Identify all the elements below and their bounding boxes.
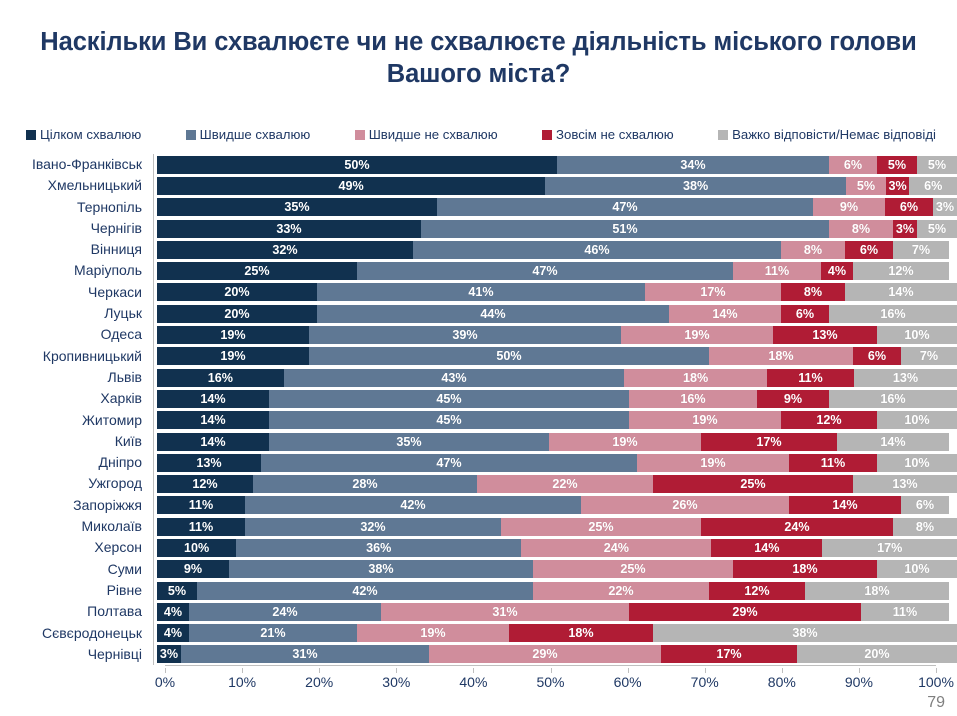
- bar-segment[interactable]: 45%: [269, 411, 629, 429]
- chart-row: Кропивницький19%50%18%6%7%: [0, 346, 957, 367]
- bar-segment[interactable]: 17%: [661, 645, 797, 663]
- bar-segment[interactable]: 31%: [381, 603, 629, 621]
- category-label: Кропивницький: [0, 346, 151, 367]
- bar-segment[interactable]: 33%: [157, 220, 421, 238]
- bar-segment[interactable]: 5%: [846, 177, 886, 195]
- bar-segment[interactable]: 18%: [805, 582, 949, 600]
- legend-label: Важко відповісти/Немає відповіді: [732, 128, 936, 141]
- legend-label: Швидше не схвалюю: [369, 128, 498, 141]
- bar-segment[interactable]: 19%: [549, 433, 701, 451]
- slide-root: Наскільки Ви схвалюєте чи не схвалюєте д…: [0, 0, 957, 716]
- bar-segment[interactable]: 19%: [157, 347, 309, 365]
- axis-tick-mark: [151, 644, 157, 665]
- chart-row: Київ14%35%19%17%14%: [0, 431, 957, 452]
- bar-segment[interactable]: 11%: [789, 454, 877, 472]
- bar-segment[interactable]: 19%: [157, 326, 309, 344]
- axis-tick-mark: [151, 601, 157, 622]
- bar-segment[interactable]: 17%: [645, 283, 781, 301]
- axis-tick: [628, 668, 629, 673]
- bar-segment[interactable]: 12%: [781, 411, 877, 429]
- bar-segment[interactable]: 4%: [821, 262, 853, 280]
- stacked-bar[interactable]: 13%47%19%11%10%: [157, 454, 957, 472]
- stacked-bar[interactable]: 3%31%29%17%20%: [157, 645, 957, 663]
- chart-row: Луцьк20%44%14%6%16%: [0, 303, 957, 324]
- stacked-bar[interactable]: 16%43%18%11%13%: [157, 369, 957, 387]
- bar-segment[interactable]: 17%: [701, 433, 837, 451]
- stacked-bar[interactable]: 14%45%19%12%10%: [157, 411, 957, 429]
- chart-row: Вінниця32%46%8%6%7%: [0, 239, 957, 260]
- bar-segment[interactable]: 18%: [624, 369, 767, 387]
- bar-segment[interactable]: 25%: [157, 262, 357, 280]
- axis-tick-mark: [151, 516, 157, 537]
- bar-segment[interactable]: 19%: [629, 411, 781, 429]
- axis-tick-mark: [151, 623, 157, 644]
- bar-segment[interactable]: 11%: [733, 262, 821, 280]
- bar-segment[interactable]: 9%: [813, 198, 885, 216]
- bar-segment[interactable]: 19%: [621, 326, 773, 344]
- axis-baseline: [165, 665, 936, 666]
- category-label: Дніпро: [0, 452, 151, 473]
- category-label: Житомир: [0, 410, 151, 431]
- bar-segment[interactable]: 3%: [157, 645, 181, 663]
- stacked-bar[interactable]: 10%36%24%14%17%: [157, 539, 957, 557]
- bar-segment[interactable]: 10%: [877, 454, 957, 472]
- bar-segment[interactable]: 43%: [284, 369, 625, 387]
- plot-area: Івано-Франківськ50%34%6%5%5%Хмельницький…: [0, 150, 957, 660]
- bar-segment[interactable]: 6%: [885, 198, 933, 216]
- category-label: Запоріжжя: [0, 495, 151, 516]
- bar-segment[interactable]: 7%: [901, 347, 957, 365]
- bar-segment[interactable]: 26%: [581, 496, 789, 514]
- bar-segment[interactable]: 39%: [309, 326, 621, 344]
- axis-tick-mark: [151, 303, 157, 324]
- bar-segment[interactable]: 36%: [236, 539, 521, 557]
- bar-segment[interactable]: 29%: [629, 603, 861, 621]
- category-label: Львів: [0, 367, 151, 388]
- axis-tick: [396, 668, 397, 673]
- chart-legend: Цілком схвалююШвидше схвалююШвидше не сх…: [26, 128, 936, 141]
- bar-segment[interactable]: 4%: [157, 624, 189, 642]
- bar-segment[interactable]: 18%: [709, 347, 853, 365]
- bar-segment[interactable]: 31%: [181, 645, 429, 663]
- stacked-bar[interactable]: 35%47%9%6%3%: [157, 198, 957, 216]
- bar-segment[interactable]: 20%: [157, 283, 317, 301]
- axis-tick-mark: [151, 346, 157, 367]
- axis-tick-mark: [151, 559, 157, 580]
- legend-item[interactable]: Важко відповісти/Немає відповіді: [718, 128, 936, 141]
- bar-segment[interactable]: 12%: [709, 582, 805, 600]
- category-label: Полтава: [0, 601, 151, 622]
- chart-row: Одеса19%39%19%13%10%: [0, 324, 957, 345]
- category-label: Вінниця: [0, 239, 151, 260]
- category-label: Маріуполь: [0, 260, 151, 281]
- stacked-bar[interactable]: 4%21%19%18%38%: [157, 624, 957, 642]
- legend-item[interactable]: Цілком схвалюю: [26, 128, 141, 141]
- category-label: Херсон: [0, 537, 151, 558]
- bar-segment[interactable]: 14%: [789, 496, 901, 514]
- axis-tick-label: 80%: [768, 674, 796, 690]
- bar-segment[interactable]: 6%: [853, 347, 901, 365]
- axis-tick: [473, 668, 474, 673]
- bar-segment[interactable]: 10%: [157, 539, 236, 557]
- bar-segment[interactable]: 14%: [845, 283, 957, 301]
- category-label: Тернопіль: [0, 197, 151, 218]
- chart-row: Тернопіль35%47%9%6%3%: [0, 197, 957, 218]
- bar-segment[interactable]: 16%: [829, 305, 957, 323]
- chart-row: Івано-Франківськ50%34%6%5%5%: [0, 154, 957, 175]
- category-label: Одеса: [0, 324, 151, 345]
- bar-segment[interactable]: 7%: [893, 241, 949, 259]
- category-label: Рівне: [0, 580, 151, 601]
- category-label: Луцьк: [0, 303, 151, 324]
- x-axis: 0%10%20%30%40%50%60%70%80%90%100%: [0, 668, 957, 698]
- bar-segment[interactable]: 42%: [197, 582, 533, 600]
- bar-segment[interactable]: 11%: [157, 496, 245, 514]
- chart-row: Харків14%45%16%9%16%: [0, 388, 957, 409]
- axis-tick-mark: [151, 431, 157, 452]
- category-label: Черкаси: [0, 282, 151, 303]
- bar-segment[interactable]: 13%: [157, 454, 261, 472]
- chart-row: Миколаїв11%32%25%24%8%: [0, 516, 957, 537]
- axis-tick-mark: [151, 324, 157, 345]
- bar-segment[interactable]: 11%: [861, 603, 949, 621]
- chart-row: Рівне5%42%22%12%18%: [0, 580, 957, 601]
- axis-tick-label: 90%: [845, 674, 873, 690]
- bar-segment[interactable]: 9%: [757, 390, 829, 408]
- category-label: Київ: [0, 431, 151, 452]
- bar-segment[interactable]: 12%: [853, 262, 949, 280]
- bar-segment[interactable]: 14%: [669, 305, 781, 323]
- stacked-bar[interactable]: 33%51%8%3%5%: [157, 220, 957, 238]
- chart-row: Хмельницький49%38%5%3%6%: [0, 175, 957, 196]
- bar-segment[interactable]: 29%: [429, 645, 661, 663]
- stacked-bar[interactable]: 25%47%11%4%12%: [157, 262, 957, 280]
- page-title: Наскільки Ви схвалюєте чи не схвалюєте д…: [40, 26, 917, 90]
- bar-segment[interactable]: 32%: [245, 518, 501, 536]
- bar-segment[interactable]: 49%: [157, 177, 545, 195]
- axis-tick: [242, 668, 243, 673]
- bar-segment[interactable]: 5%: [157, 582, 197, 600]
- axis-tick-mark: [151, 239, 157, 260]
- bar-segment[interactable]: 6%: [909, 177, 957, 195]
- chart-row: Запоріжжя11%42%26%14%6%: [0, 495, 957, 516]
- stacked-bar[interactable]: 19%50%18%6%7%: [157, 347, 957, 365]
- chart-row: Львів16%43%18%11%13%: [0, 367, 957, 388]
- chart-row: Полтава4%24%31%29%11%: [0, 601, 957, 622]
- stacked-bar[interactable]: 14%35%19%17%14%: [157, 433, 957, 451]
- category-label: Суми: [0, 559, 151, 580]
- axis-tick: [165, 668, 166, 673]
- bar-segment[interactable]: 25%: [533, 560, 733, 578]
- bar-segment[interactable]: 18%: [509, 624, 653, 642]
- category-label: Чернігів: [0, 218, 151, 239]
- chart-row: Маріуполь25%47%11%4%12%: [0, 260, 957, 281]
- axis-tick-mark: [151, 197, 157, 218]
- category-label: Харків: [0, 388, 151, 409]
- axis-tick: [705, 668, 706, 673]
- axis-tick-mark: [151, 452, 157, 473]
- bar-segment[interactable]: 18%: [733, 560, 877, 578]
- bar-segment[interactable]: 32%: [157, 241, 413, 259]
- bar-segment[interactable]: 8%: [781, 241, 845, 259]
- chart-area: Івано-Франківськ50%34%6%5%5%Хмельницький…: [0, 150, 957, 670]
- bar-segment[interactable]: 10%: [877, 411, 957, 429]
- axis-tick-label: 0%: [155, 674, 175, 690]
- bar-segment[interactable]: 10%: [877, 560, 957, 578]
- bar-segment[interactable]: 16%: [157, 369, 284, 387]
- bar-segment[interactable]: 12%: [157, 475, 253, 493]
- bar-segment[interactable]: 47%: [261, 454, 637, 472]
- chart-row: Суми9%38%25%18%10%: [0, 559, 957, 580]
- bar-segment[interactable]: 4%: [157, 603, 189, 621]
- axis-tick-label: 70%: [691, 674, 719, 690]
- axis-tick: [936, 668, 937, 673]
- bar-segment[interactable]: 8%: [893, 518, 957, 536]
- axis-tick: [859, 668, 860, 673]
- bar-segment[interactable]: 50%: [157, 156, 557, 174]
- legend-label: Зовсім не схвалюю: [556, 128, 674, 141]
- stacked-bar[interactable]: 19%39%19%13%10%: [157, 326, 957, 344]
- stacked-bar[interactable]: 20%41%17%8%14%: [157, 283, 957, 301]
- bar-segment[interactable]: 3%: [893, 220, 917, 238]
- bar-segment[interactable]: 41%: [317, 283, 645, 301]
- bar-segment[interactable]: 19%: [637, 454, 789, 472]
- bar-segment[interactable]: 22%: [477, 475, 653, 493]
- axis-tick-label: 40%: [459, 674, 487, 690]
- bar-segment[interactable]: 47%: [437, 198, 813, 216]
- bar-segment[interactable]: 5%: [917, 156, 957, 174]
- bar-segment[interactable]: 46%: [413, 241, 781, 259]
- chart-row: Чернівці3%31%29%17%20%: [0, 644, 957, 665]
- bar-segment[interactable]: 14%: [711, 539, 822, 557]
- axis-tick-mark: [151, 218, 157, 239]
- axis-tick: [782, 668, 783, 673]
- axis-tick-mark: [151, 282, 157, 303]
- legend-swatch-icon: [542, 130, 552, 140]
- bar-segment[interactable]: 38%: [229, 560, 533, 578]
- bar-segment[interactable]: 13%: [854, 369, 957, 387]
- bar-segment[interactable]: 11%: [157, 518, 245, 536]
- bar-segment[interactable]: 24%: [701, 518, 893, 536]
- category-label: Миколаїв: [0, 516, 151, 537]
- bar-segment[interactable]: 35%: [157, 198, 437, 216]
- bar-segment[interactable]: 11%: [767, 369, 854, 387]
- legend-swatch-icon: [186, 130, 196, 140]
- legend-item[interactable]: Швидше схвалюю: [186, 128, 311, 141]
- stacked-bar[interactable]: 49%38%5%3%6%: [157, 177, 957, 195]
- bar-segment[interactable]: 38%: [653, 624, 957, 642]
- axis-tick: [551, 668, 552, 673]
- axis-tick-mark: [151, 410, 157, 431]
- stacked-bar[interactable]: 4%24%31%29%11%: [157, 603, 957, 621]
- legend-label: Цілком схвалюю: [40, 128, 141, 141]
- bar-segment[interactable]: 16%: [629, 390, 757, 408]
- bar-segment[interactable]: 13%: [773, 326, 877, 344]
- axis-tick-mark: [151, 537, 157, 558]
- bar-segment[interactable]: 5%: [877, 156, 917, 174]
- axis-tick-label: 30%: [382, 674, 410, 690]
- axis-tick-mark: [151, 495, 157, 516]
- bar-segment[interactable]: 10%: [877, 326, 957, 344]
- axis-tick-mark: [151, 260, 157, 281]
- bar-segment[interactable]: 9%: [157, 560, 229, 578]
- bar-segment[interactable]: 3%: [886, 177, 910, 195]
- chart-row: Черкаси20%41%17%8%14%: [0, 282, 957, 303]
- legend-swatch-icon: [718, 130, 728, 140]
- category-label: Івано-Франківськ: [0, 154, 151, 175]
- bar-segment[interactable]: 51%: [421, 220, 829, 238]
- chart-row: Сєвєродонецьк4%21%19%18%38%: [0, 623, 957, 644]
- chart-row: Херсон10%36%24%14%17%: [0, 537, 957, 558]
- axis-tick-mark: [151, 580, 157, 601]
- category-label: Чернівці: [0, 644, 151, 665]
- chart-row: Дніпро13%47%19%11%10%: [0, 452, 957, 473]
- bar-segment[interactable]: 14%: [157, 411, 269, 429]
- chart-row: Ужгород12%28%22%25%13%: [0, 473, 957, 494]
- stacked-bar[interactable]: 11%32%25%24%8%: [157, 518, 957, 536]
- stacked-bar[interactable]: 11%42%26%14%6%: [157, 496, 957, 514]
- axis-tick-mark: [151, 388, 157, 409]
- stacked-bar[interactable]: 32%46%8%6%7%: [157, 241, 957, 259]
- axis-tick-label: 60%: [614, 674, 642, 690]
- axis-tick-mark: [151, 175, 157, 196]
- legend-item[interactable]: Зовсім не схвалюю: [542, 128, 674, 141]
- bar-segment[interactable]: 28%: [253, 475, 477, 493]
- bar-segment[interactable]: 5%: [917, 220, 957, 238]
- bar-segment[interactable]: 6%: [781, 305, 829, 323]
- axis-tick-label: 50%: [536, 674, 564, 690]
- bar-segment[interactable]: 20%: [797, 645, 957, 663]
- bar-segment[interactable]: 35%: [269, 433, 549, 451]
- bar-segment[interactable]: 6%: [845, 241, 893, 259]
- bar-segment[interactable]: 44%: [317, 305, 669, 323]
- bar-segment[interactable]: 24%: [189, 603, 381, 621]
- axis-tick-mark: [151, 367, 157, 388]
- legend-item[interactable]: Швидше не схвалюю: [355, 128, 498, 141]
- chart-row: Чернігів33%51%8%3%5%: [0, 218, 957, 239]
- legend-label: Швидше схвалюю: [200, 128, 311, 141]
- bar-segment[interactable]: 19%: [357, 624, 509, 642]
- stacked-bar[interactable]: 14%45%16%9%16%: [157, 390, 957, 408]
- stacked-bar[interactable]: 20%44%14%6%16%: [157, 305, 957, 323]
- stacked-bar[interactable]: 12%28%22%25%13%: [157, 475, 957, 493]
- bar-segment[interactable]: 47%: [357, 262, 733, 280]
- bar-segment[interactable]: 34%: [557, 156, 829, 174]
- stacked-bar[interactable]: 9%38%25%18%10%: [157, 560, 957, 578]
- bar-segment[interactable]: 20%: [157, 305, 317, 323]
- category-label: Хмельницький: [0, 175, 151, 196]
- bar-rows: Івано-Франківськ50%34%6%5%5%Хмельницький…: [0, 154, 957, 665]
- bar-segment[interactable]: 24%: [521, 539, 711, 557]
- bar-segment[interactable]: 25%: [501, 518, 701, 536]
- bar-segment[interactable]: 14%: [157, 433, 269, 451]
- bar-segment[interactable]: 6%: [901, 496, 949, 514]
- bar-segment[interactable]: 14%: [837, 433, 949, 451]
- chart-row: Житомир14%45%19%12%10%: [0, 410, 957, 431]
- bar-segment[interactable]: 42%: [245, 496, 581, 514]
- bar-segment[interactable]: 8%: [781, 283, 845, 301]
- bar-segment[interactable]: 25%: [653, 475, 853, 493]
- axis-tick: [319, 668, 320, 673]
- bar-segment[interactable]: 21%: [189, 624, 357, 642]
- bar-segment[interactable]: 22%: [533, 582, 709, 600]
- axis-tick-mark: [151, 473, 157, 494]
- stacked-bar[interactable]: 5%42%22%12%18%: [157, 582, 957, 600]
- axis-tick-label: 10%: [228, 674, 256, 690]
- legend-swatch-icon: [355, 130, 365, 140]
- page-number: 79: [927, 694, 945, 712]
- category-label: Ужгород: [0, 473, 151, 494]
- bar-segment[interactable]: 3%: [933, 198, 957, 216]
- bar-segment[interactable]: 17%: [822, 539, 957, 557]
- axis-tick-label: 100%: [918, 674, 954, 690]
- legend-swatch-icon: [26, 130, 36, 140]
- bar-segment[interactable]: 16%: [829, 390, 957, 408]
- stacked-bar[interactable]: 50%34%6%5%5%: [157, 156, 957, 174]
- axis-tick-label: 20%: [305, 674, 333, 690]
- axis-tick-mark: [151, 154, 157, 175]
- bar-segment[interactable]: 6%: [829, 156, 877, 174]
- bar-segment[interactable]: 38%: [545, 177, 846, 195]
- bar-segment[interactable]: 13%: [853, 475, 957, 493]
- bar-segment[interactable]: 14%: [157, 390, 269, 408]
- category-label: Сєвєродонецьк: [0, 623, 151, 644]
- bar-segment[interactable]: 45%: [269, 390, 629, 408]
- bar-segment[interactable]: 50%: [309, 347, 709, 365]
- bar-segment[interactable]: 8%: [829, 220, 893, 238]
